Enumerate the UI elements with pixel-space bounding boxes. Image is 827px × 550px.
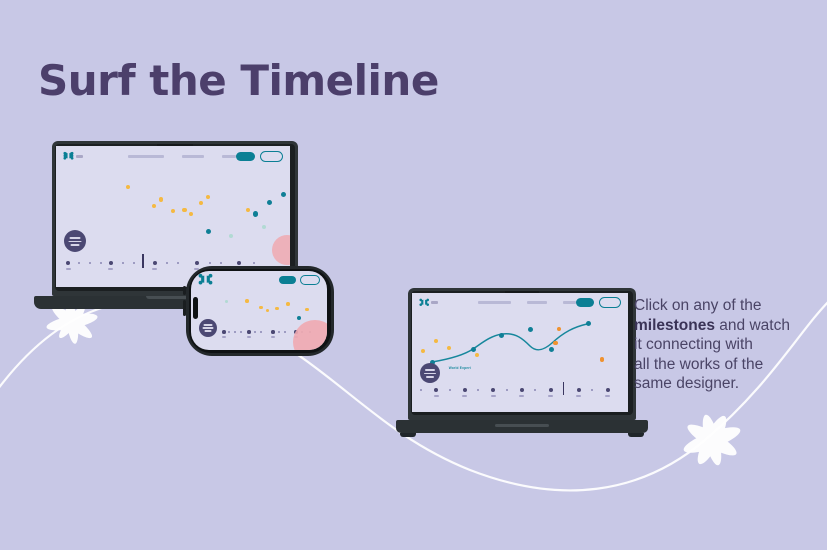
callout-emphasis: milestones (634, 317, 715, 334)
scatter-dot[interactable] (447, 346, 451, 350)
timeline-tick-label (491, 395, 496, 397)
laptop-two-trackpad-notch (495, 424, 549, 427)
callout-line-4: all the works of the (634, 356, 763, 373)
signup-button[interactable] (260, 151, 283, 162)
scatter-dot[interactable] (297, 316, 301, 320)
nav-link-credits[interactable] (563, 301, 576, 304)
timeline-tick-label (222, 336, 226, 338)
scatter-dot[interactable] (275, 307, 279, 311)
filter-badge[interactable] (420, 363, 440, 383)
timeline-minor-tick (220, 262, 222, 264)
scatter-dot[interactable] (245, 299, 249, 303)
timeline-minor-tick (506, 389, 508, 391)
nav-actions (576, 297, 621, 308)
callout-line-5: same designer. (634, 375, 739, 392)
logo-wordmark (431, 301, 438, 304)
signup-button[interactable] (599, 297, 621, 308)
milestone-dot[interactable] (586, 321, 591, 326)
timeline-minor-tick (253, 262, 255, 264)
scatter-dot[interactable] (206, 195, 211, 200)
timeline-tick-label (108, 268, 113, 270)
filter-badge[interactable] (199, 319, 217, 337)
timeline-tick[interactable] (247, 330, 251, 334)
timeline-tick-label (271, 336, 275, 338)
scatter-dot[interactable] (266, 309, 270, 313)
timeline-minor-tick (228, 331, 230, 333)
page-title: Surf the Timeline (38, 56, 439, 105)
laptop-two-foot-left (400, 433, 416, 437)
timeline-tick[interactable] (463, 388, 467, 392)
timeline-minor-tick (209, 262, 211, 264)
timeline-minor-tick (89, 262, 91, 264)
laptop-two-screen[interactable]: World Expert (412, 293, 628, 412)
scatter-dot[interactable] (286, 302, 290, 306)
timeline-axis[interactable] (418, 387, 622, 400)
callout-text: Click on any of the milestones and watch… (634, 296, 826, 394)
nav-actions (236, 151, 283, 162)
timeline-tick[interactable] (237, 261, 241, 265)
timeline-minor-tick (284, 331, 286, 333)
timeline-minor-tick (177, 262, 179, 264)
timeline-tick[interactable] (434, 388, 438, 392)
butterfly-x-logo-icon[interactable] (198, 273, 213, 286)
phone-side-button[interactable] (183, 300, 186, 316)
scatter-dot[interactable] (182, 208, 187, 213)
pink-badge-text (311, 335, 325, 344)
phone-screen[interactable] (191, 271, 327, 350)
login-button[interactable] (576, 298, 594, 307)
scatter-dot[interactable] (152, 204, 156, 208)
app-navbar (56, 146, 290, 166)
scatter-dot[interactable] (259, 306, 263, 310)
nav-link-timeline[interactable] (478, 301, 511, 304)
timeline-tick[interactable] (549, 388, 553, 392)
nav-links (478, 301, 576, 304)
timeline-minor-tick (534, 389, 536, 391)
nav-link-credits[interactable] (222, 155, 236, 158)
callout-line-3: it connecting with (634, 336, 753, 353)
scatter-dot[interactable] (281, 192, 286, 197)
timeline-minor-tick (254, 331, 256, 333)
milestone-dot[interactable] (549, 347, 554, 352)
phone-nav-actions (279, 275, 320, 285)
signup-button[interactable] (300, 275, 320, 285)
scatter-dot[interactable] (475, 353, 479, 357)
scatter-dot[interactable] (189, 212, 193, 216)
scatter-plot-area[interactable] (56, 168, 290, 247)
scatter-dot[interactable] (126, 185, 130, 189)
timeline-minor-tick (449, 389, 451, 391)
app-navbar (412, 293, 628, 311)
timeline-tick[interactable] (109, 261, 113, 265)
scatter-dot[interactable] (206, 229, 211, 234)
timeline-tick-label (605, 395, 610, 397)
timeline-minor-tick (420, 389, 422, 391)
timeline-minor-tick (166, 262, 168, 264)
nav-link-about[interactable] (182, 155, 204, 158)
timeline-tick-label (434, 395, 439, 397)
scatter-dot[interactable] (305, 308, 309, 312)
timeline-tick[interactable] (271, 330, 275, 334)
scatter-dot[interactable] (159, 197, 164, 202)
laptop-two-foot-right (628, 433, 644, 437)
timeline-cursor[interactable] (142, 254, 144, 268)
scatter-dot[interactable] (199, 201, 203, 205)
timeline-tick-label (152, 268, 157, 270)
scatter-dot[interactable] (267, 200, 272, 205)
timeline-tick[interactable] (195, 261, 199, 265)
phone-app-navbar (191, 271, 327, 288)
timeline-tick-label (519, 395, 524, 397)
scatter-dot[interactable] (229, 234, 233, 238)
series-label: World Expert (449, 366, 471, 370)
timeline-tick[interactable] (66, 261, 70, 265)
milestone-line-chart[interactable]: World Expert (412, 313, 628, 378)
timeline-cursor[interactable] (563, 382, 565, 395)
scatter-dot[interactable] (600, 357, 605, 362)
scatter-dot[interactable] (246, 208, 250, 212)
login-button[interactable] (236, 152, 255, 161)
timeline-tick[interactable] (577, 388, 581, 392)
login-button[interactable] (279, 276, 296, 284)
timeline-tick[interactable] (222, 330, 226, 334)
scatter-dot[interactable] (434, 339, 438, 343)
scatter-dot[interactable] (225, 300, 228, 303)
timeline-minor-tick (240, 331, 242, 333)
timeline-tick-label (247, 336, 251, 338)
butterfly-x-logo-icon[interactable] (419, 296, 429, 309)
nav-links (128, 155, 236, 158)
nav-link-timeline[interactable] (128, 155, 164, 158)
timeline-tick[interactable] (520, 388, 524, 392)
timeline-tick-label (66, 268, 71, 270)
callout-line-2: and watch (715, 317, 790, 334)
timeline-minor-tick (477, 389, 479, 391)
milestone-line-path (412, 313, 628, 378)
filter-badge[interactable] (64, 230, 86, 252)
timeline-minor-tick (260, 331, 262, 333)
scatter-dot[interactable] (253, 211, 259, 217)
butterfly-x-logo-icon[interactable] (63, 149, 74, 163)
timeline-minor-tick (234, 331, 236, 333)
timeline-tick[interactable] (491, 388, 495, 392)
flower-sparkle-right (681, 413, 743, 468)
timeline-tick[interactable] (153, 261, 157, 265)
laptop-two-base (396, 420, 648, 433)
timeline-minor-tick (122, 262, 124, 264)
milestone-dot[interactable] (528, 327, 533, 332)
timeline-tick-label (548, 395, 553, 397)
poster-canvas: Surf the Timeline (0, 0, 827, 550)
timeline-minor-tick (591, 389, 593, 391)
timeline-tick-label (462, 395, 467, 397)
timeline-minor-tick (133, 262, 135, 264)
timeline-minor-tick (78, 262, 80, 264)
timeline-minor-tick (100, 262, 102, 264)
nav-link-about[interactable] (527, 301, 547, 304)
logo-wordmark (76, 155, 83, 158)
timeline-minor-tick (278, 331, 280, 333)
callout-line-1: Click on any of the (634, 297, 762, 314)
timeline-tick-label (576, 395, 581, 397)
timeline-tick[interactable] (606, 388, 610, 392)
phone-volume-button[interactable] (183, 286, 186, 295)
scatter-dot[interactable] (171, 209, 175, 213)
scatter-dot[interactable] (262, 225, 266, 229)
